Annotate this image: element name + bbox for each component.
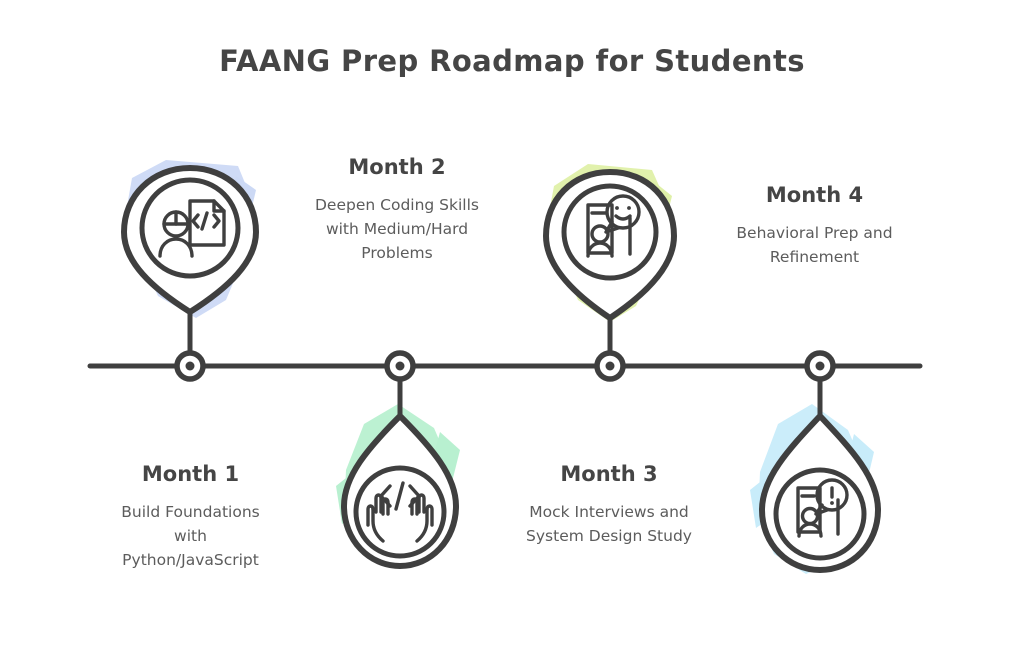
milestone-description-line: with (88, 524, 293, 548)
marker-pin-month-3[interactable] (546, 172, 674, 318)
milestone-month-title: Month 1 (88, 462, 293, 487)
milestone-month-title: Month 3 (500, 462, 718, 487)
milestone-month-title: Month 4 (712, 183, 917, 208)
marker-pin-month-1[interactable] (124, 168, 256, 312)
milestone-description: Deepen Coding Skills with Medium/Hard Pr… (288, 193, 506, 265)
roadmap-diagram: FAANG Prep Roadmap for Students (0, 0, 1024, 646)
milestone-month-title: Month 2 (288, 155, 506, 180)
milestone-description: Behavioral Prep and Refinement (712, 221, 917, 269)
milestone-label-month-4: Month 4 Behavioral Prep and Refinement (712, 183, 917, 269)
timeline-node-month-2[interactable] (387, 353, 413, 379)
milestone-label-month-2: Month 2 Deepen Coding Skills with Medium… (288, 155, 506, 265)
milestone-description-line: Problems (288, 241, 506, 265)
timeline-node-month-3[interactable] (597, 353, 623, 379)
milestone-description-line: Build Foundations (88, 500, 293, 524)
milestone-description-line: System Design Study (500, 524, 718, 548)
milestone-description-line: with Medium/Hard (288, 217, 506, 241)
timeline-node-month-4[interactable] (807, 353, 833, 379)
timeline-node-month-1[interactable] (177, 353, 203, 379)
milestone-description-line: Mock Interviews and (500, 500, 718, 524)
milestone-description-line: Deepen Coding Skills (288, 193, 506, 217)
milestone-description-line: Python/JavaScript (88, 548, 293, 572)
milestone-description-line: Refinement (712, 245, 917, 269)
milestone-label-month-1: Month 1 Build Foundations with Python/Ja… (88, 462, 293, 572)
milestone-description: Build Foundations with Python/JavaScript (88, 500, 293, 572)
milestone-description-line: Behavioral Prep and (712, 221, 917, 245)
milestone-label-month-3: Month 3 Mock Interviews and System Desig… (500, 462, 718, 548)
milestone-description: Mock Interviews and System Design Study (500, 500, 718, 548)
